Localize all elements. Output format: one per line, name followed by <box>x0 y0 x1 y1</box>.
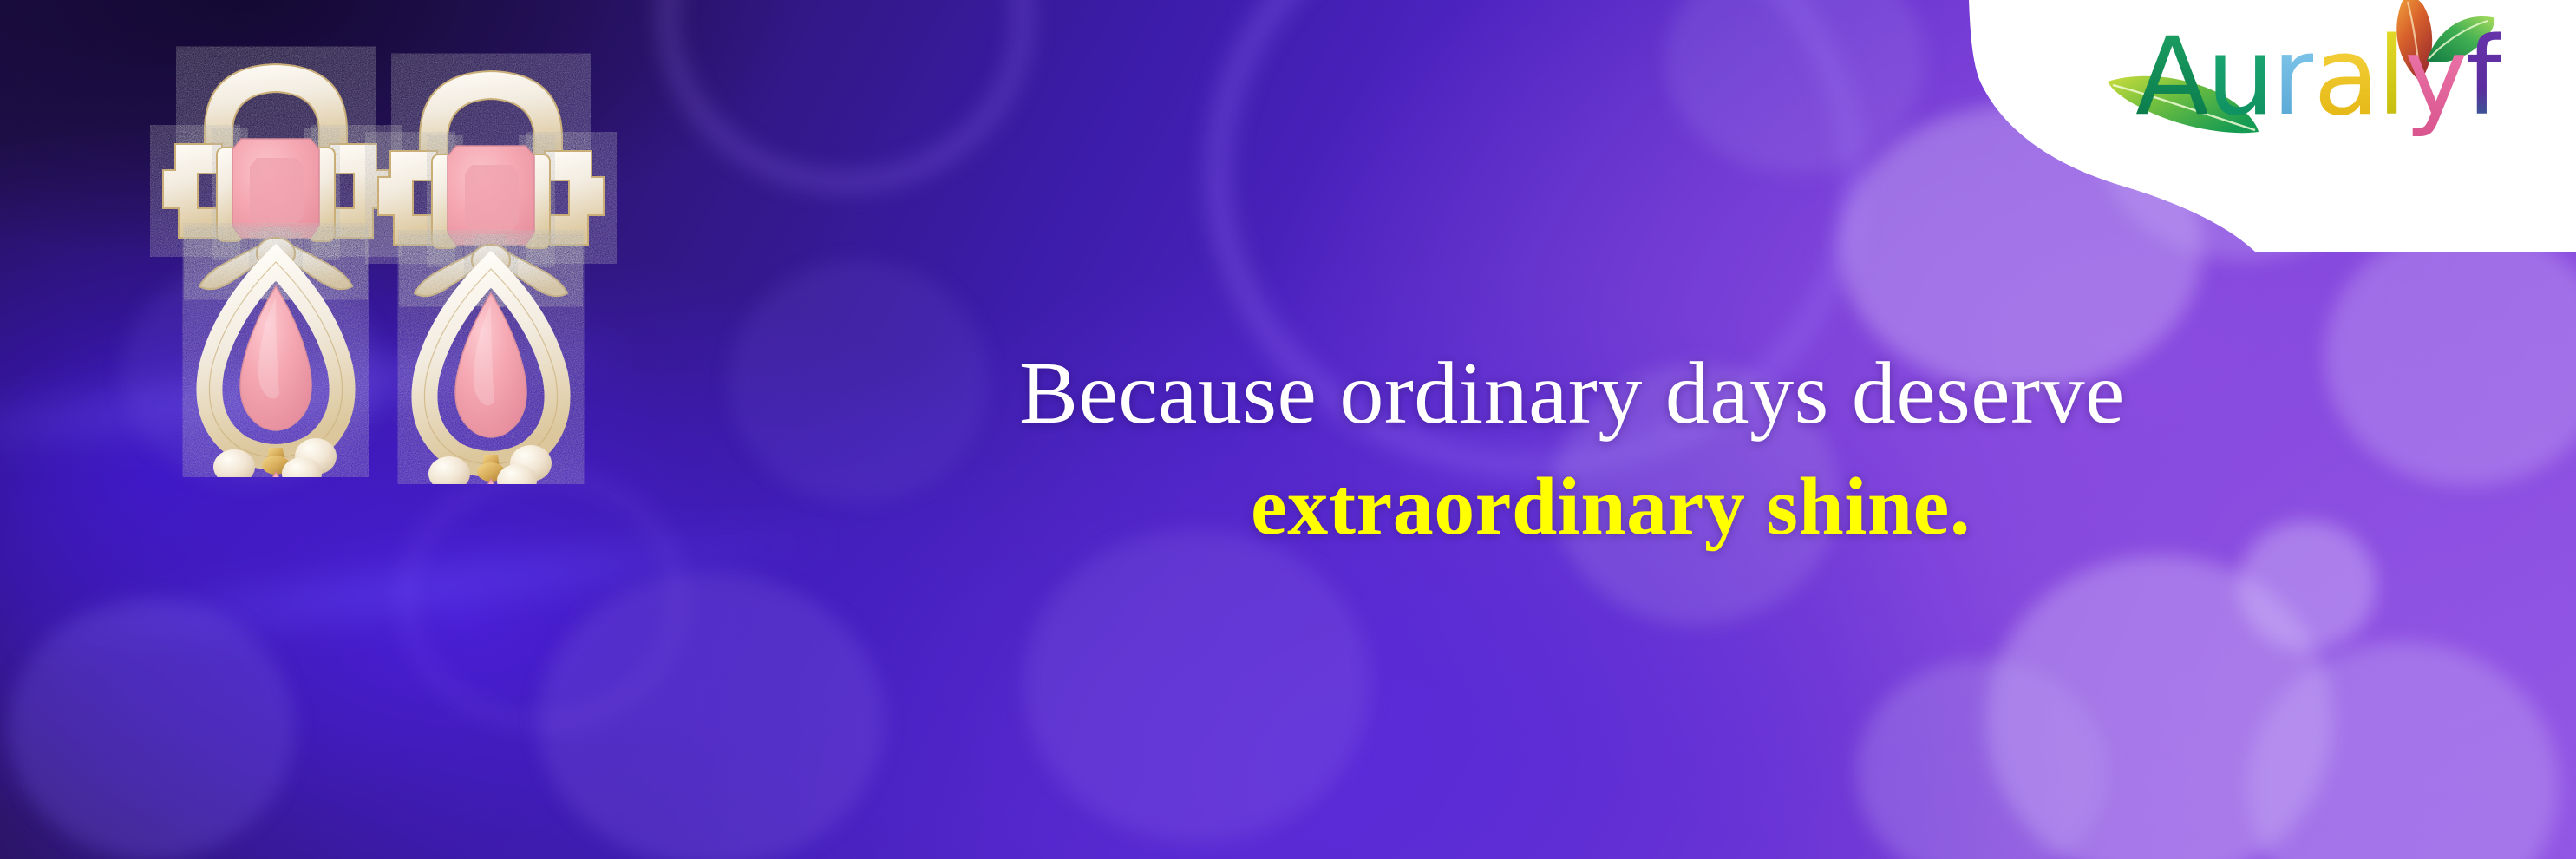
logo-letter-f: f <box>2465 12 2501 142</box>
logo-letter-l: l <box>2377 12 2403 142</box>
logo-letter-u: u <box>2207 12 2272 142</box>
logo-letter-y: y <box>2404 12 2465 142</box>
earring-right <box>311 33 675 489</box>
tagline-line-1: Because ordinary days deserve <box>1019 343 2125 444</box>
earring-square-stone-facet <box>250 158 304 224</box>
logo-plate: Auralyf <box>1969 0 2576 252</box>
logo-wordmark[interactable]: Auralyf <box>2135 12 2552 160</box>
earring-square-stone-facet <box>465 165 519 231</box>
logo-letters: Auralyf <box>2135 12 2501 142</box>
promo-banner: Because ordinary days deserve extraordin… <box>0 0 2576 859</box>
tagline-line-2: extraordinary shine. <box>1251 460 1971 554</box>
logo-letter-A: A <box>2135 12 2207 142</box>
logo-letter-r: r <box>2272 12 2313 142</box>
logo-letter-a: a <box>2313 12 2377 142</box>
